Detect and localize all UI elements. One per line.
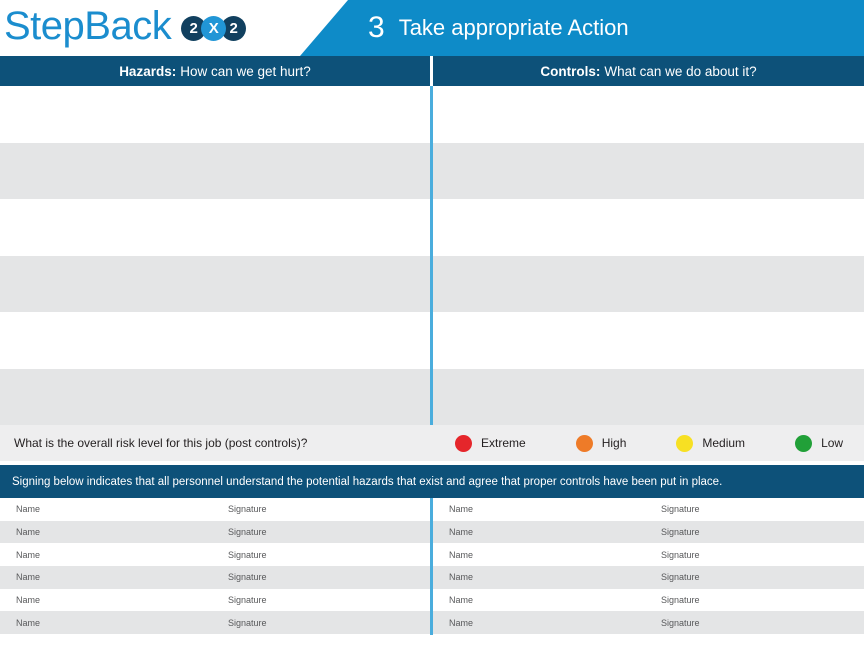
control-entry-cell[interactable] <box>433 86 864 143</box>
column-header-controls: Controls: What can we do about it? <box>433 56 864 86</box>
risk-level-question: What is the overall risk level for this … <box>14 436 307 450</box>
hazard-entry-cell[interactable] <box>0 86 430 143</box>
risk-level-legend: ExtremeHighMediumLow <box>455 425 843 461</box>
hazards-label-rest: How can we get hurt? <box>180 64 311 79</box>
hazard-entry-cell[interactable] <box>0 312 430 369</box>
signature-name-field[interactable]: Name <box>449 572 661 582</box>
signature-sign-field[interactable]: Signature <box>228 572 267 582</box>
signature-sign-field[interactable]: Signature <box>228 595 267 605</box>
risk-swatch-high-icon[interactable] <box>576 435 593 452</box>
signature-sign-field[interactable]: Signature <box>228 550 267 560</box>
column-header-row: Hazards: How can we get hurt? Controls: … <box>0 56 864 86</box>
risk-level-label: Low <box>821 436 843 450</box>
signature-sign-field[interactable]: Signature <box>661 595 700 605</box>
signature-sign-field[interactable]: Signature <box>661 618 700 628</box>
signature-name-field[interactable]: Name <box>16 504 228 514</box>
signature-table: NameSignatureNameSignatureNameSignatureN… <box>0 498 864 634</box>
step-number: 3 <box>368 13 385 43</box>
control-entry-cell[interactable] <box>433 143 864 200</box>
signature-name-field[interactable]: Name <box>16 595 228 605</box>
risk-level-option-high[interactable]: High <box>576 435 627 452</box>
signing-banner: Signing below indicates that all personn… <box>0 465 864 498</box>
risk-level-option-medium[interactable]: Medium <box>676 435 745 452</box>
step-banner: 3 Take appropriate Action <box>300 0 864 56</box>
signature-sign-field[interactable]: Signature <box>661 527 700 537</box>
signature-half-right: NameSignature <box>433 589 864 612</box>
brand-dot-x: X <box>201 16 226 41</box>
signature-name-field[interactable]: Name <box>16 618 228 628</box>
signature-half-right: NameSignature <box>433 611 864 634</box>
signature-half-left: NameSignature <box>0 521 430 544</box>
control-entry-cell[interactable] <box>433 369 864 426</box>
hazard-entry-cell[interactable] <box>0 369 430 426</box>
signature-sign-field[interactable]: Signature <box>228 504 267 514</box>
signature-sign-field[interactable]: Signature <box>228 527 267 537</box>
brand-wordmark: StepBack <box>4 4 171 48</box>
signature-name-field[interactable]: Name <box>449 618 661 628</box>
control-entry-cell[interactable] <box>433 199 864 256</box>
column-header-hazards: Hazards: How can we get hurt? <box>0 56 430 86</box>
signing-banner-text: Signing below indicates that all personn… <box>12 476 722 488</box>
step-title: Take appropriate Action <box>399 17 629 39</box>
signature-name-field[interactable]: Name <box>449 550 661 560</box>
risk-level-label: Medium <box>702 436 745 450</box>
masthead: StepBack 2 X 2 3 Take appropriate Action <box>0 0 864 56</box>
signature-half-right: NameSignature <box>433 543 864 566</box>
risk-level-option-extreme[interactable]: Extreme <box>455 435 526 452</box>
signature-half-left: NameSignature <box>0 543 430 566</box>
signature-half-right: NameSignature <box>433 521 864 544</box>
signature-half-left: NameSignature <box>0 589 430 612</box>
signature-name-field[interactable]: Name <box>16 550 228 560</box>
grid-center-divider <box>430 86 433 425</box>
signature-half-right: NameSignature <box>433 498 864 521</box>
signature-half-right: NameSignature <box>433 566 864 589</box>
signature-sign-field[interactable]: Signature <box>228 618 267 628</box>
signature-name-field[interactable]: Name <box>16 572 228 582</box>
risk-swatch-extreme-icon[interactable] <box>455 435 472 452</box>
risk-level-label: Extreme <box>481 436 526 450</box>
signature-name-field[interactable]: Name <box>16 527 228 537</box>
hazards-controls-grid <box>0 86 864 425</box>
hazards-label-bold: Hazards: <box>119 64 176 79</box>
hazard-entry-cell[interactable] <box>0 199 430 256</box>
signature-sign-field[interactable]: Signature <box>661 550 700 560</box>
brand-logo: StepBack 2 X 2 <box>4 2 246 50</box>
hazard-entry-cell[interactable] <box>0 256 430 313</box>
signature-half-left: NameSignature <box>0 498 430 521</box>
signature-half-left: NameSignature <box>0 611 430 634</box>
risk-level-label: High <box>602 436 627 450</box>
signature-name-field[interactable]: Name <box>449 527 661 537</box>
brand-2x2-mark: 2 X 2 <box>181 16 246 41</box>
risk-swatch-low-icon[interactable] <box>795 435 812 452</box>
risk-level-option-low[interactable]: Low <box>795 435 843 452</box>
control-entry-cell[interactable] <box>433 312 864 369</box>
risk-level-strip: What is the overall risk level for this … <box>0 425 864 461</box>
signature-name-field[interactable]: Name <box>449 595 661 605</box>
control-entry-cell[interactable] <box>433 256 864 313</box>
controls-label-bold: Controls: <box>540 64 600 79</box>
controls-label-rest: What can we do about it? <box>604 64 756 79</box>
signature-name-field[interactable]: Name <box>449 504 661 514</box>
signature-sign-field[interactable]: Signature <box>661 504 700 514</box>
signature-center-divider <box>430 498 433 635</box>
risk-swatch-medium-icon[interactable] <box>676 435 693 452</box>
signature-sign-field[interactable]: Signature <box>661 572 700 582</box>
hazard-entry-cell[interactable] <box>0 143 430 200</box>
signature-half-left: NameSignature <box>0 566 430 589</box>
